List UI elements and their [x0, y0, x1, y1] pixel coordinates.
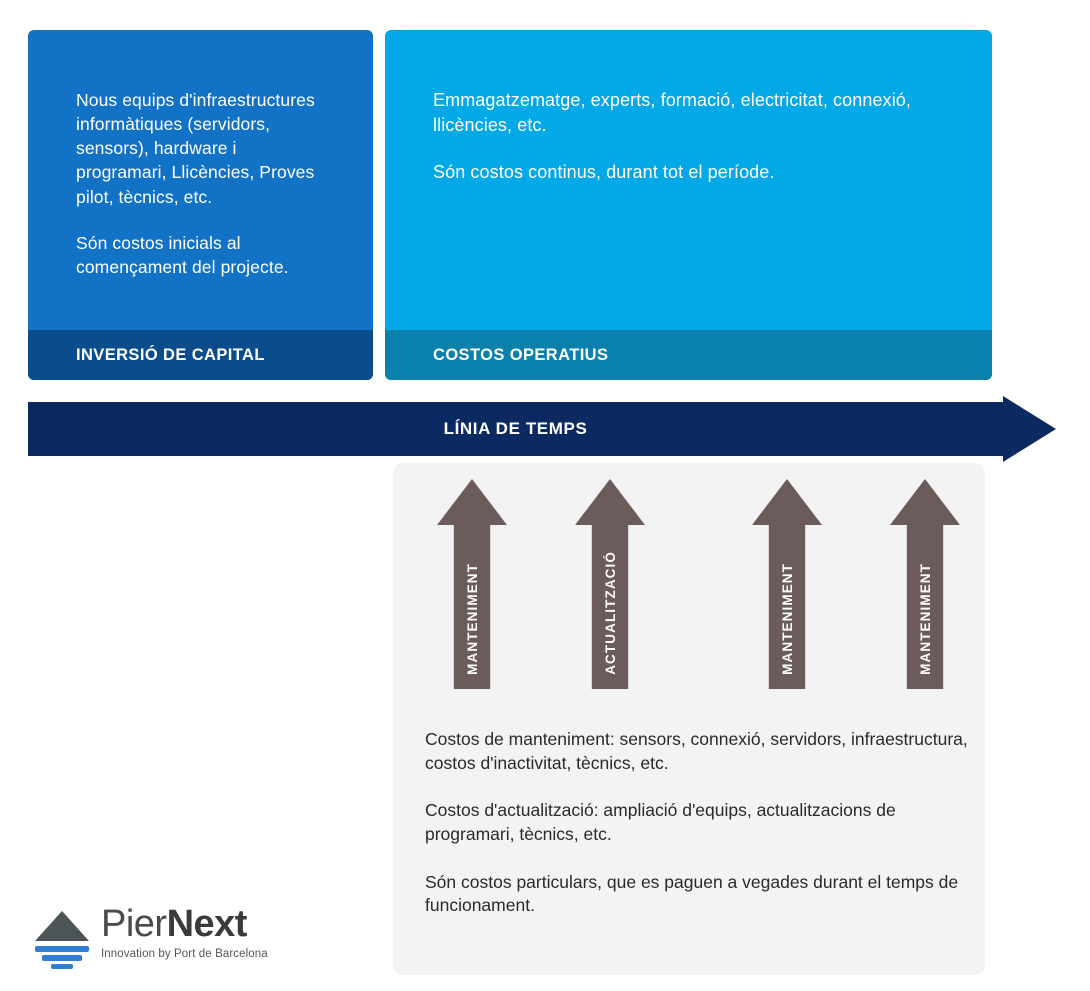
maintenance-arrow-2-label-wrap: ACTUALITZACIÓ [575, 479, 645, 689]
maintenance-arrow-1-label-wrap: MANTENIMENT [437, 479, 507, 689]
maintenance-paragraph-2: Costos d'actualització: ampliació d'equi… [425, 799, 975, 846]
piernext-logo: PierNext Innovation by Port de Barcelona [33, 903, 278, 977]
timeline-arrow: LÍNIA DE TEMPS [28, 396, 1056, 462]
maintenance-arrow-1: MANTENIMENT [437, 479, 507, 689]
opex-footer-label: COSTOS OPERATIUS [433, 346, 608, 365]
capex-panel-footer: INVERSIÓ DE CAPITAL [28, 330, 373, 380]
capex-panel: Nous equips d'infraestructures informàti… [28, 30, 373, 380]
piernext-name-bold: Next [167, 903, 247, 945]
timeline-label: LÍNIA DE TEMPS [28, 396, 1003, 462]
maintenance-paragraph-3: Són costos particulars, que es paguen a … [425, 871, 975, 918]
maintenance-arrow-3: MANTENIMENT [752, 479, 822, 689]
opex-panel: Emmagatzematge, experts, formació, elect… [385, 30, 992, 380]
capex-paragraph-1: Nous equips d'infraestructures informàti… [76, 88, 329, 209]
maintenance-arrow-3-label-wrap: MANTENIMENT [752, 479, 822, 689]
maintenance-arrow-2: ACTUALITZACIÓ [575, 479, 645, 689]
opex-paragraph-2: Són costos continus, durant tot el perío… [433, 160, 948, 185]
opex-paragraph-1: Emmagatzematge, experts, formació, elect… [433, 88, 948, 138]
piernext-name: PierNext [101, 905, 281, 945]
maintenance-arrow-1-label: MANTENIMENT [465, 563, 480, 675]
capex-paragraph-2: Són costos inicials al començament del p… [76, 231, 329, 279]
maintenance-paragraph-1: Costos de manteniment: sensors, connexió… [425, 728, 975, 775]
maintenance-arrow-4-label-wrap: MANTENIMENT [890, 479, 960, 689]
maintenance-arrow-4-label: MANTENIMENT [918, 563, 933, 675]
capex-panel-body: Nous equips d'infraestructures informàti… [28, 30, 373, 330]
opex-panel-footer: COSTOS OPERATIUS [385, 330, 992, 380]
maintenance-description: Costos de manteniment: sensors, connexió… [425, 728, 975, 918]
maintenance-arrow-4: MANTENIMENT [890, 479, 960, 689]
diagram-canvas: Nous equips d'infraestructures informàti… [0, 0, 1090, 991]
opex-panel-body: Emmagatzematge, experts, formació, elect… [385, 30, 992, 330]
piernext-tagline: Innovation by Port de Barcelona [101, 948, 281, 960]
piernext-logo-mark-icon [33, 907, 91, 969]
maintenance-arrow-3-label: MANTENIMENT [780, 563, 795, 675]
maintenance-arrow-2-label: ACTUALITZACIÓ [603, 551, 618, 675]
piernext-wordmark: PierNext Innovation by Port de Barcelona [101, 905, 281, 960]
piernext-name-light: Pier [101, 903, 167, 945]
capex-footer-label: INVERSIÓ DE CAPITAL [76, 346, 265, 365]
